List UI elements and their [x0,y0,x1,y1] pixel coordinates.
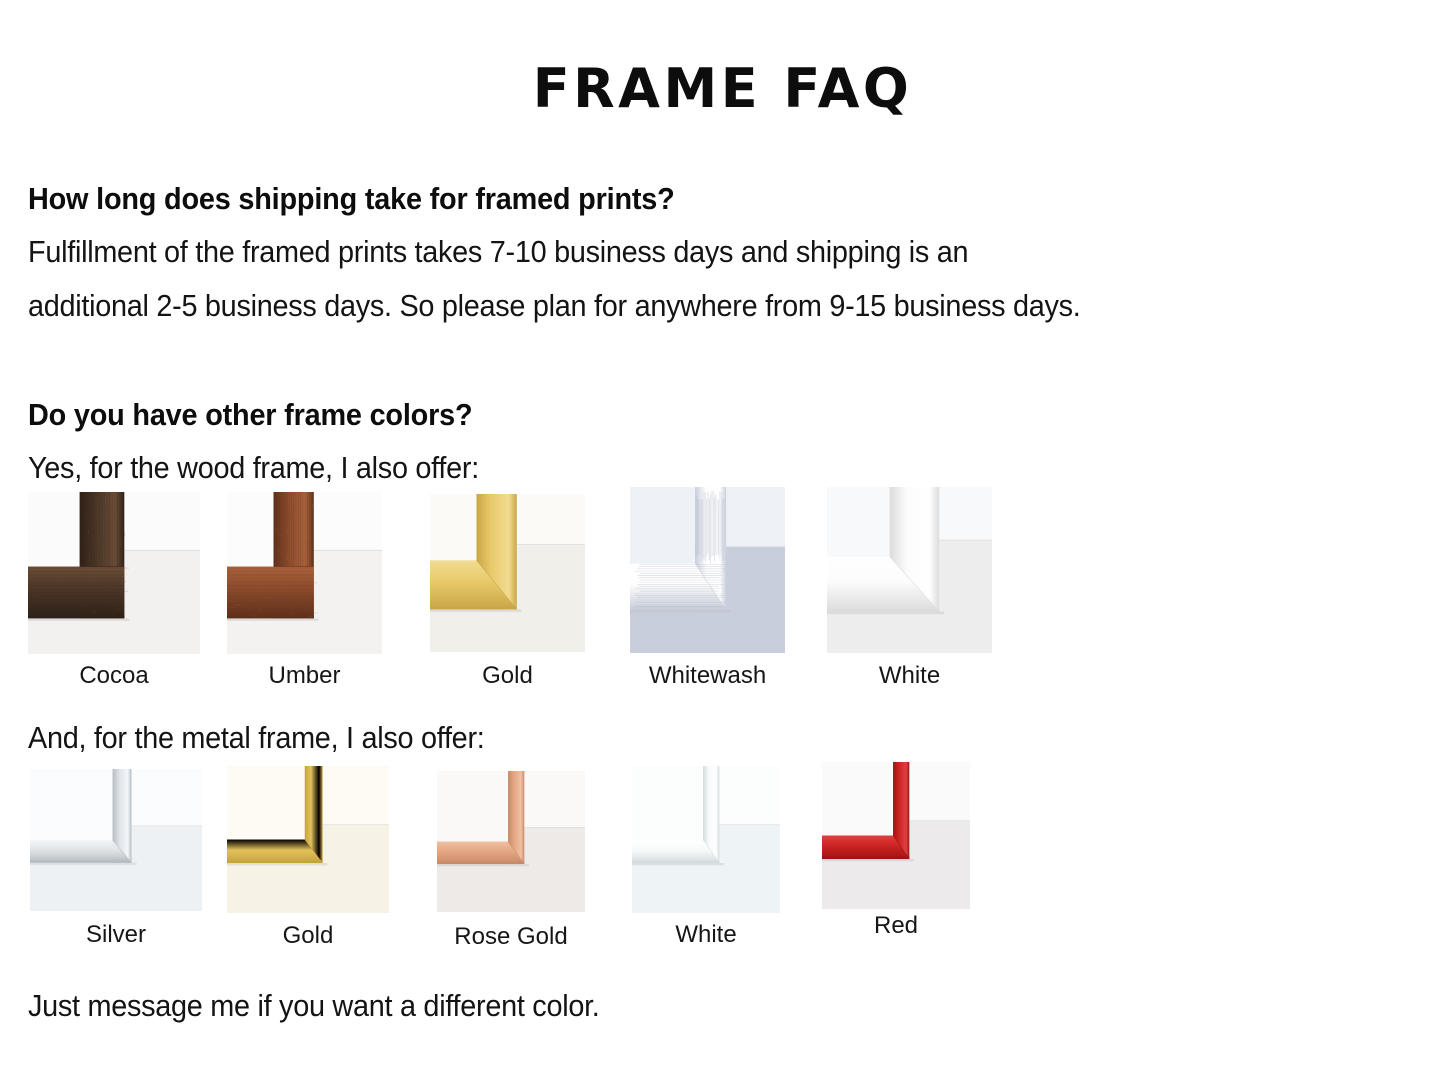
wood-frame-photo-whitewash [630,487,785,653]
metal-frame-swatch-silver[interactable]: Silver [30,769,202,955]
faq-answer-shipping-line-2: additional 2-5 business days. So please … [28,288,1080,324]
metal-frame-label-white: White [632,921,780,949]
faq-answer-shipping-line-1: Fulfillment of the framed prints takes 7… [28,234,968,270]
metal-frame-swatch-red[interactable]: Red [822,762,970,946]
wood-frame-photo-umber [227,492,382,654]
page-title: FRAME FAQ [0,62,1445,116]
faq-question-shipping: How long does shipping take for framed p… [28,181,675,217]
faq-question-frame-colors: Do you have other frame colors? [28,397,472,433]
metal-frame-swatch-gold[interactable]: Gold [227,766,389,956]
wood-frame-swatch-umber[interactable]: Umber [227,492,382,696]
wood-frame-label-white: White [827,662,992,690]
metal-frame-swatch-rose-gold[interactable]: Rose Gold [437,771,585,957]
wood-frame-swatch-whitewash[interactable]: Whitewash [630,487,785,696]
metal-frame-label-silver: Silver [30,921,202,949]
wood-frame-swatch-gold[interactable]: Gold [430,494,585,696]
closing-message: Just message me if you want a different … [28,988,600,1024]
wood-frame-photo-gold [430,494,585,652]
wood-frame-label-gold: Gold [430,662,585,690]
metal-frame-label-red: Red [822,912,970,940]
metal-frames-intro: And, for the metal frame, I also offer: [28,720,484,756]
wood-frame-photo-white [827,487,992,653]
metal-frame-photo-gold [227,766,389,913]
metal-frame-photo-silver [30,769,202,911]
wood-frame-photo-cocoa [28,492,200,654]
metal-frame-swatch-white[interactable]: White [632,766,780,955]
metal-frame-photo-rose-gold [437,771,585,912]
wood-frame-swatch-cocoa[interactable]: Cocoa [28,492,200,696]
wood-frame-swatch-white[interactable]: White [827,487,992,696]
wood-frames-intro: Yes, for the wood frame, I also offer: [28,450,479,486]
wood-frame-label-whitewash: Whitewash [630,662,785,690]
metal-frame-label-gold: Gold [227,922,389,950]
wood-frame-label-umber: Umber [227,662,382,690]
metal-frame-photo-white [632,766,780,913]
metal-frame-label-rose-gold: Rose Gold [437,923,585,951]
metal-frame-photo-red [822,762,970,909]
wood-frame-label-cocoa: Cocoa [28,662,200,690]
